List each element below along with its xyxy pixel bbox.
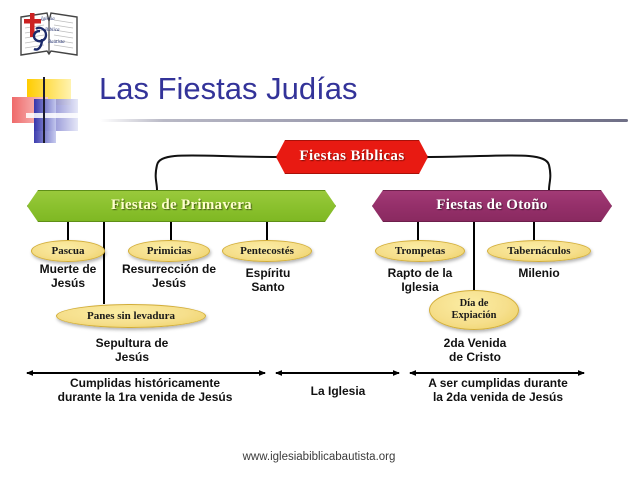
- node-label: Fiestas de Otoño: [436, 198, 547, 214]
- footer-url: www.iglesiabiblicabautista.org: [0, 451, 638, 463]
- caption-primicias: Resurrección de Jesús: [104, 262, 234, 291]
- title-decoration: [12, 77, 98, 143]
- caption-line1: Milenio: [489, 266, 589, 280]
- connector-primicias: [170, 222, 172, 240]
- slide-canvas: Iglesia Biblica Bautista: [0, 0, 638, 479]
- caption-pascua: Muerte de Jesús: [18, 262, 118, 291]
- caption-tabernaculos: Milenio: [489, 266, 589, 280]
- svg-text:Bautista: Bautista: [48, 40, 65, 45]
- caption-line1: 2da Venida: [412, 336, 538, 350]
- node-label: Pentecostés: [240, 245, 294, 257]
- caption-line1: Espíritu: [222, 266, 314, 280]
- node-label: Fiestas Bíblicas: [299, 149, 404, 165]
- connector-pascua: [67, 222, 69, 240]
- node-pentecostes[interactable]: Pentecostés: [222, 240, 312, 262]
- svg-text:Biblica: Biblica: [45, 28, 60, 33]
- node-label-line2: Expiación: [452, 310, 497, 322]
- node-label: Fiestas de Primavera: [111, 198, 252, 214]
- connector-tabernaculos: [533, 222, 535, 240]
- caption-line2: Iglesia: [363, 280, 477, 294]
- node-panes-sin-levadura[interactable]: Panes sin levadura: [56, 304, 206, 328]
- connector-trompetas: [417, 222, 419, 240]
- node-label: Tabernáculos: [507, 245, 570, 257]
- node-label: Primicias: [147, 245, 192, 257]
- caption-pentecostes: Espíritu Santo: [222, 266, 314, 295]
- timeline-segment-future: A ser cumplidas durante la 2da venida de…: [409, 376, 587, 405]
- caption-trompetas: Rapto de la Iglesia: [363, 266, 477, 295]
- node-tabernaculos[interactable]: Tabernáculos: [487, 240, 591, 262]
- page-title: Las Fiestas Judías: [99, 71, 357, 107]
- caption-line2: Jesús: [18, 276, 118, 290]
- caption-line1: Sepultura de: [62, 336, 202, 350]
- caption-line1: Rapto de la: [363, 266, 477, 280]
- node-fiestas-de-otono[interactable]: Fiestas de Otoño: [372, 190, 612, 222]
- timeline-line2: durante la 1ra venida de Jesús: [20, 390, 270, 404]
- timeline-line1: A ser cumplidas durante: [409, 376, 587, 390]
- node-trompetas[interactable]: Trompetas: [375, 240, 465, 262]
- node-label: Pascua: [52, 245, 85, 257]
- caption-line2: Jesús: [62, 350, 202, 364]
- caption-line1: Resurrección de: [104, 262, 234, 276]
- open-book-icon: Iglesia Biblica Bautista: [18, 5, 80, 63]
- svg-text:Iglesia: Iglesia: [40, 17, 55, 22]
- church-logo: Iglesia Biblica Bautista: [18, 5, 80, 63]
- node-fiestas-biblicas[interactable]: Fiestas Bíblicas: [276, 140, 428, 174]
- caption-line1: Muerte de: [18, 262, 118, 276]
- caption-panes-sin-levadura: Sepultura de Jesús: [62, 336, 202, 365]
- timeline-line2: la 2da venida de Jesús: [409, 390, 587, 404]
- node-label: Panes sin levadura: [87, 310, 175, 322]
- node-fiestas-de-primavera[interactable]: Fiestas de Primavera: [27, 190, 336, 222]
- node-primicias[interactable]: Primicias: [128, 240, 210, 262]
- node-label: Trompetas: [395, 245, 445, 257]
- timeline-segment-past: Cumplidas históricamente durante la 1ra …: [20, 376, 270, 405]
- timeline-line1: Cumplidas históricamente: [20, 376, 270, 390]
- timeline-line1: La Iglesia: [277, 384, 399, 398]
- caption-line2: Jesús: [104, 276, 234, 290]
- connector-pentecostes: [266, 222, 268, 240]
- node-pascua[interactable]: Pascua: [31, 240, 105, 262]
- caption-dia-de-expiacion: 2da Venida de Cristo: [412, 336, 538, 365]
- title-divider: [100, 119, 628, 122]
- node-dia-de-expiacion[interactable]: Día de Expiación: [429, 290, 519, 330]
- caption-line2: de Cristo: [412, 350, 538, 364]
- caption-line2: Santo: [222, 280, 314, 294]
- node-label-line1: Día de: [460, 298, 489, 310]
- timeline-segment-church: La Iglesia: [277, 384, 399, 398]
